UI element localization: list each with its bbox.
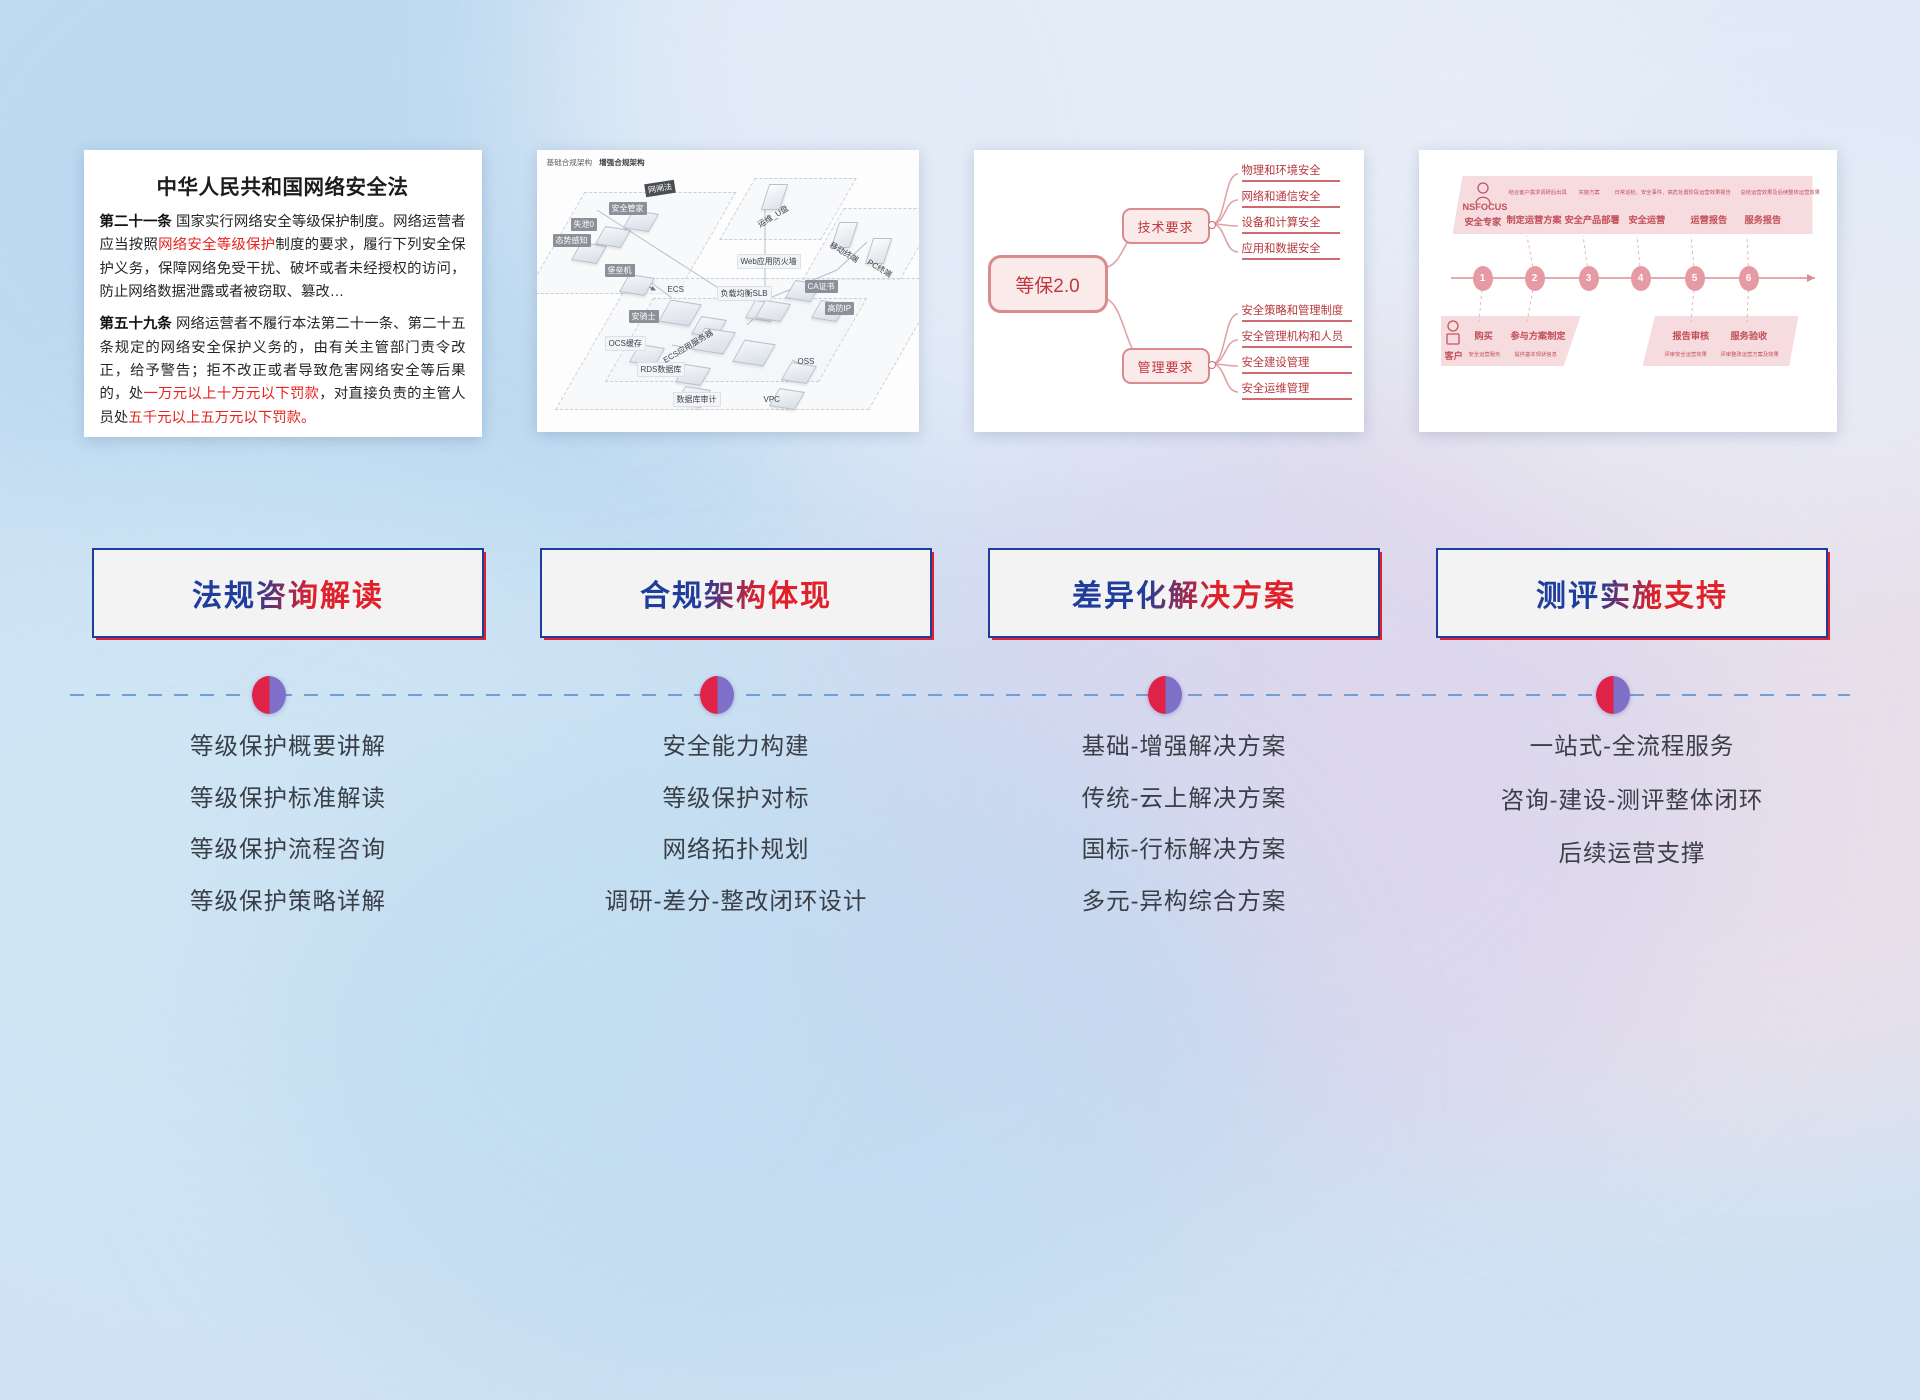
nsfocus-top-title-4: 运营报告: [1691, 212, 1728, 226]
customer-person-icon: [1447, 321, 1459, 344]
list-item: 网络拓扑规划: [540, 838, 932, 862]
article-21-highlight: 网络安全等级保护: [158, 237, 275, 253]
arch-label-highdefip: 高防IP: [825, 302, 855, 315]
mindmap-root: 等保2.0: [988, 255, 1108, 313]
nsfocus-role-expert: 安全专家: [1465, 214, 1502, 228]
section-pill-architecture[interactable]: 合规架构体现: [540, 548, 932, 638]
list-item: 多元-异构综合方案: [988, 890, 1380, 914]
card-row: 中华人民共和国网络安全法 第二十一条 国家实行网络安全等级保护制度。网络运营者应…: [0, 150, 1920, 450]
nsfocus-brand: NSFOCUS: [1463, 202, 1508, 212]
mindmap-branch-technical: 技术要求: [1122, 208, 1210, 244]
nsfocus-bot-sub-4: 评审整改运营方案及效果: [1721, 350, 1779, 358]
detail-list-assessment: 一站式-全流程服务 咨询-建设-测评整体闭环 后续运营支撑: [1436, 735, 1828, 941]
list-item: 等级保护策略详解: [92, 890, 484, 914]
mindmap-leaf-network: 网络和通信安全: [1242, 188, 1340, 208]
nsfocus-step-number-1: 1: [1473, 266, 1493, 291]
section-pill-label-3: 差异化解决方案: [1072, 571, 1296, 615]
arch-label-manager: 安全管家: [609, 202, 647, 215]
nsfocus-top-sub-2: 实施方案: [1579, 188, 1600, 196]
card-cybersecurity-law: 中华人民共和国网络安全法 第二十一条 国家实行网络安全等级保护制度。网络运营者应…: [84, 150, 482, 437]
timeline-dot-2: [700, 676, 734, 714]
arch-label-vpc: VPC: [761, 394, 783, 405]
list-item: 等级保护标准解读: [92, 787, 484, 811]
arch-label-dbaudit: 数据库审计: [673, 392, 721, 407]
list-item: 国标-行标解决方案: [988, 838, 1380, 862]
detail-list-architecture: 安全能力构建 等级保护对标 网络拓扑规划 调研-差分-整改闭环设计: [540, 735, 932, 941]
nsfocus-top-title-3: 安全运营: [1629, 212, 1666, 226]
mindmap-leaf-operation: 安全运维管理: [1242, 380, 1352, 400]
nsfocus-top-title-2: 安全产品部署: [1565, 212, 1620, 226]
nsfocus-bot-title-4: 服务验收: [1731, 328, 1768, 342]
article-59-highlight-1: 一万元以上十万元以下罚款: [143, 386, 319, 402]
nsfocus-top-sub-4: 阶段运营效果报告: [1689, 188, 1731, 196]
arch-label-slb: 负载均衡SLB: [717, 286, 772, 301]
mindmap-leaf-org: 安全管理机构和人员: [1242, 328, 1352, 348]
nsfocus-role-customer: 客户: [1445, 348, 1463, 362]
nsfocus-bot-sub-2: 提供基本现状信息: [1515, 350, 1557, 358]
arch-label-oss: OSS: [795, 356, 818, 367]
list-item: 传统-云上解决方案: [988, 787, 1380, 811]
nsfocus-step-number-4: 4: [1631, 266, 1651, 291]
arch-label-ecs: ECS: [665, 284, 687, 295]
section-pill-label-2: 合规架构体现: [640, 571, 832, 615]
mindmap-collapse-dot-management[interactable]: [1208, 361, 1216, 369]
mindmap-leaf-app: 应用和数据安全: [1242, 240, 1340, 260]
list-item: 基础-增强解决方案: [988, 735, 1380, 759]
arch-label-situational: 态势感知: [553, 234, 591, 247]
list-item: 一站式-全流程服务: [1436, 735, 1828, 759]
nsfocus-bot-title-1: 购买: [1475, 328, 1493, 342]
card-cloud-architecture: 基础合规架构 增强合规架构: [537, 150, 919, 432]
mindmap-leaf-build: 安全建设管理: [1242, 354, 1352, 374]
arch-cube-leak: [594, 226, 630, 248]
section-pill-row: 法规咨询解读 合规架构体现 差异化解决方案 测评实施支持: [0, 548, 1920, 644]
card-mindmap-dengbao: 等保2.0 技术要求 管理要求 物理和环境安全 网络和通信安全 设备和计算安全 …: [974, 150, 1364, 432]
nsfocus-bot-sub-1: 安全运营服务: [1469, 350, 1501, 358]
arch-label-bastion: 堡垒机: [605, 264, 635, 277]
timeline-dot-3: [1148, 676, 1182, 714]
detail-list-regulation: 等级保护概要讲解 等级保护标准解读 等级保护流程咨询 等级保护策略详解: [92, 735, 484, 941]
nsfocus-step-number-2: 2: [1525, 266, 1545, 291]
list-item: 咨询-建设-测评整体闭环: [1436, 789, 1828, 813]
section-pill-solution[interactable]: 差异化解决方案: [988, 548, 1380, 638]
article-59-label: 第五十九条: [100, 316, 172, 332]
arch-label-ca: CA证书: [805, 280, 838, 293]
arch-label-rds: RDS数据库: [637, 362, 686, 377]
timeline-dot-1: [252, 676, 286, 714]
nsfocus-top-title-5: 服务报告: [1745, 212, 1782, 226]
law-title: 中华人民共和国网络安全法: [100, 170, 466, 200]
section-pill-label-1: 法规咨询解读: [192, 571, 384, 615]
expert-person-icon: [1476, 183, 1490, 204]
mindmap-leaf-device: 设备和计算安全: [1242, 214, 1340, 234]
section-pill-assessment[interactable]: 测评实施支持: [1436, 548, 1828, 638]
list-item: 安全能力构建: [540, 735, 932, 759]
list-item: 后续运营支撑: [1436, 842, 1828, 866]
mindmap-leaf-policy: 安全策略和管理制度: [1242, 302, 1352, 322]
article-21-label: 第二十一条: [100, 214, 172, 230]
arch-label-ocs: OCS缓存: [605, 336, 646, 351]
nsfocus-step-number-5: 5: [1685, 266, 1705, 291]
list-item: 等级保护流程咨询: [92, 838, 484, 862]
arch-label-agent: 安骑士: [629, 310, 659, 323]
nsfocus-step-number-6: 6: [1739, 266, 1759, 291]
mindmap-collapse-dot-technical[interactable]: [1208, 221, 1216, 229]
list-item: 等级保护概要讲解: [92, 735, 484, 759]
card-nsfocus-process: 1 2 3 4 5 6 NSFOCUS 安全专家 客户 结合客户需求调研后出具 …: [1419, 150, 1837, 432]
mindmap-leaf-physical: 物理和环境安全: [1242, 162, 1340, 182]
section-pill-regulation[interactable]: 法规咨询解读: [92, 548, 484, 638]
mindmap-branch-management: 管理要求: [1122, 348, 1210, 384]
nsfocus-top-sub-3: 日常巡检、安全事件、高危处置: [1615, 188, 1689, 196]
nsfocus-top-title-1: 制定运营方案: [1507, 212, 1562, 226]
arch-label-waf: Web应用防火墙: [737, 254, 801, 269]
list-item: 调研-差分-整改闭环设计: [540, 890, 932, 914]
article-59-highlight-2: 五千元以上五万元以下罚款。: [128, 410, 315, 426]
law-article-59: 第五十九条 网络运营者不履行本法第二十一条、第二十五条规定的网络安全保护义务的，…: [100, 313, 466, 430]
nsfocus-step-number-3: 3: [1579, 266, 1599, 291]
timeline-dashed-line: [70, 694, 1850, 696]
nsfocus-bot-title-2: 参与方案制定: [1511, 328, 1566, 342]
nsfocus-bot-title-3: 报告审核: [1673, 328, 1710, 342]
arch-cube-bastion: [618, 274, 654, 296]
arch-cube-ecs3: [732, 340, 776, 367]
list-item: 等级保护对标: [540, 787, 932, 811]
nsfocus-top-sub-1: 结合客户需求调研后出具: [1509, 188, 1567, 196]
section-pill-label-4: 测评实施支持: [1536, 571, 1728, 615]
section-detail-lists: 等级保护概要讲解 等级保护标准解读 等级保护流程咨询 等级保护策略详解 安全能力…: [0, 735, 1920, 941]
arch-label-leak: 失泄0: [571, 218, 597, 231]
timeline-dot-4: [1596, 676, 1630, 714]
law-article-21: 第二十一条 国家实行网络安全等级保护制度。网络运营者应当按照网络安全等级保护制度…: [100, 211, 466, 304]
nsfocus-bot-sub-3: 评审安全运营效果: [1665, 350, 1707, 358]
detail-list-solution: 基础-增强解决方案 传统-云上解决方案 国标-行标解决方案 多元-异构综合方案: [988, 735, 1380, 941]
arch-cube-slb: [754, 300, 790, 322]
nsfocus-top-sub-5: 总结运营效果及后续整体运营效果: [1741, 188, 1820, 196]
